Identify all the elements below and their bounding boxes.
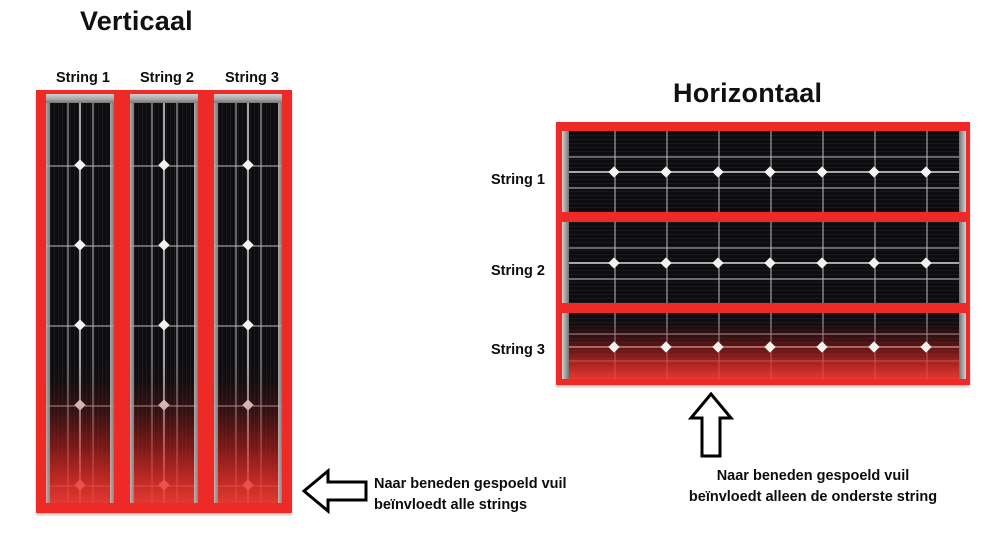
horizontal-string-segment-2: [562, 222, 966, 303]
module-frame-top: [46, 94, 114, 103]
cell-grid: [562, 222, 966, 303]
cell-grid: [562, 131, 966, 212]
horizontal-string-segment-1: [562, 131, 966, 212]
vertical-string-label-2: String 2: [140, 70, 194, 86]
vertical-panel-title: Verticaal: [80, 6, 193, 37]
horizontal-string-label-2: String 2: [491, 263, 545, 279]
horizontal-panel-title: Horizontaal: [673, 78, 822, 109]
horizontal-string-label-3: String 3: [491, 342, 545, 358]
vertical-string-segment-3: [214, 94, 282, 503]
cell-diamonds: [562, 313, 966, 379]
note-line-2: beïnvloedt alleen de onderste string: [648, 487, 978, 508]
horizontal-string-label-1: String 1: [491, 172, 545, 188]
vertical-panel-note: Naar beneden gespoeld vuil beïnvloedt al…: [374, 474, 567, 516]
module-frame-top: [214, 94, 282, 103]
cell-grid: [46, 94, 114, 503]
cell-grid: [130, 94, 198, 503]
diagram-canvas: Verticaal String 1 String 2 String 3: [0, 0, 1000, 537]
vertical-solar-module: [36, 90, 292, 513]
note-line-1: Naar beneden gespoeld vuil: [648, 466, 978, 487]
horizontal-string-segment-3: [562, 313, 966, 379]
arrow-up-icon: [688, 392, 734, 458]
vertical-string-label-1: String 1: [56, 70, 110, 86]
module-frame-top: [130, 94, 198, 103]
vertical-string-segment-1: [46, 94, 114, 503]
cell-grid: [214, 94, 282, 503]
vertical-string-segment-2: [130, 94, 198, 503]
horizontal-solar-module: [556, 122, 970, 385]
arrow-left-icon: [302, 468, 368, 514]
note-line-2: beïnvloedt alle strings: [374, 495, 567, 516]
note-line-1: Naar beneden gespoeld vuil: [374, 474, 567, 495]
horizontal-panel-note: Naar beneden gespoeld vuil beïnvloedt al…: [648, 466, 978, 508]
vertical-string-label-3: String 3: [225, 70, 279, 86]
